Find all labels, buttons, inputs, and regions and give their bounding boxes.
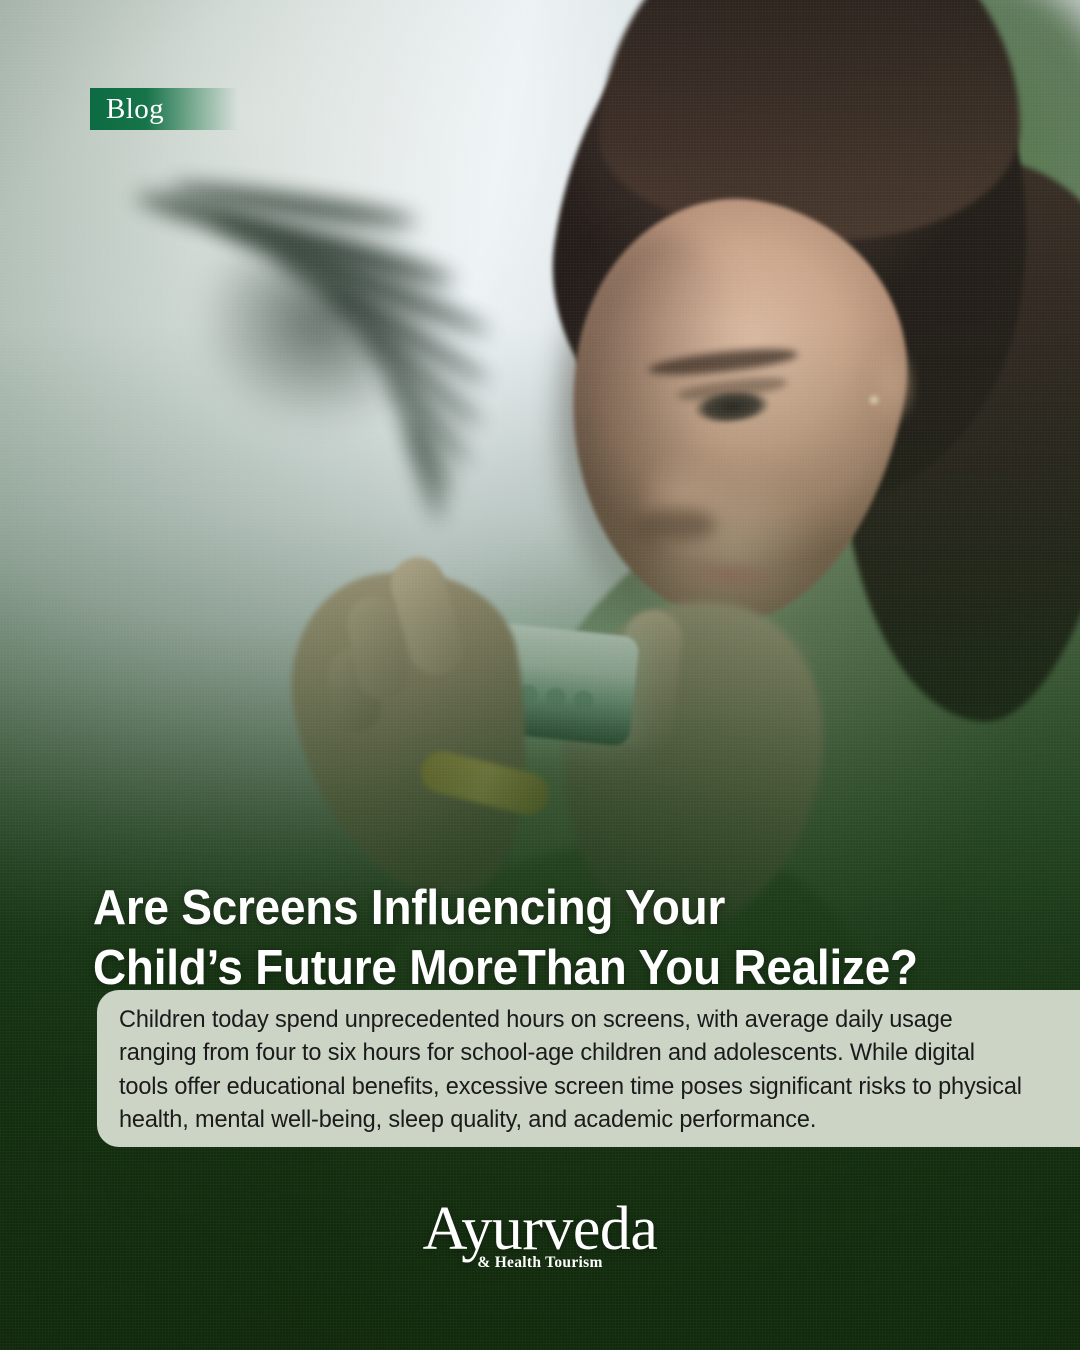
brand-tagline: & Health Tourism bbox=[0, 1254, 1080, 1272]
photo-grain bbox=[0, 0, 1080, 1350]
brand-logo: Ayurveda & Health Tourism bbox=[0, 1198, 1080, 1272]
blog-badge-label: Blog bbox=[90, 95, 164, 124]
summary-text: Children today spend unprecedented hours… bbox=[119, 1003, 1025, 1136]
blog-badge[interactable]: Blog bbox=[90, 88, 238, 130]
page-title: Are Screens Influencing Your Child’s Fut… bbox=[93, 879, 953, 999]
background-photo bbox=[0, 0, 1080, 1350]
page-title-line-1: Are Screens Influencing Your bbox=[93, 879, 953, 939]
summary-panel: Children today spend unprecedented hours… bbox=[97, 990, 1080, 1147]
social-post-card: Blog Are Screens Influencing Your Child’… bbox=[0, 0, 1080, 1350]
brand-name: Ayurveda bbox=[0, 1198, 1080, 1260]
